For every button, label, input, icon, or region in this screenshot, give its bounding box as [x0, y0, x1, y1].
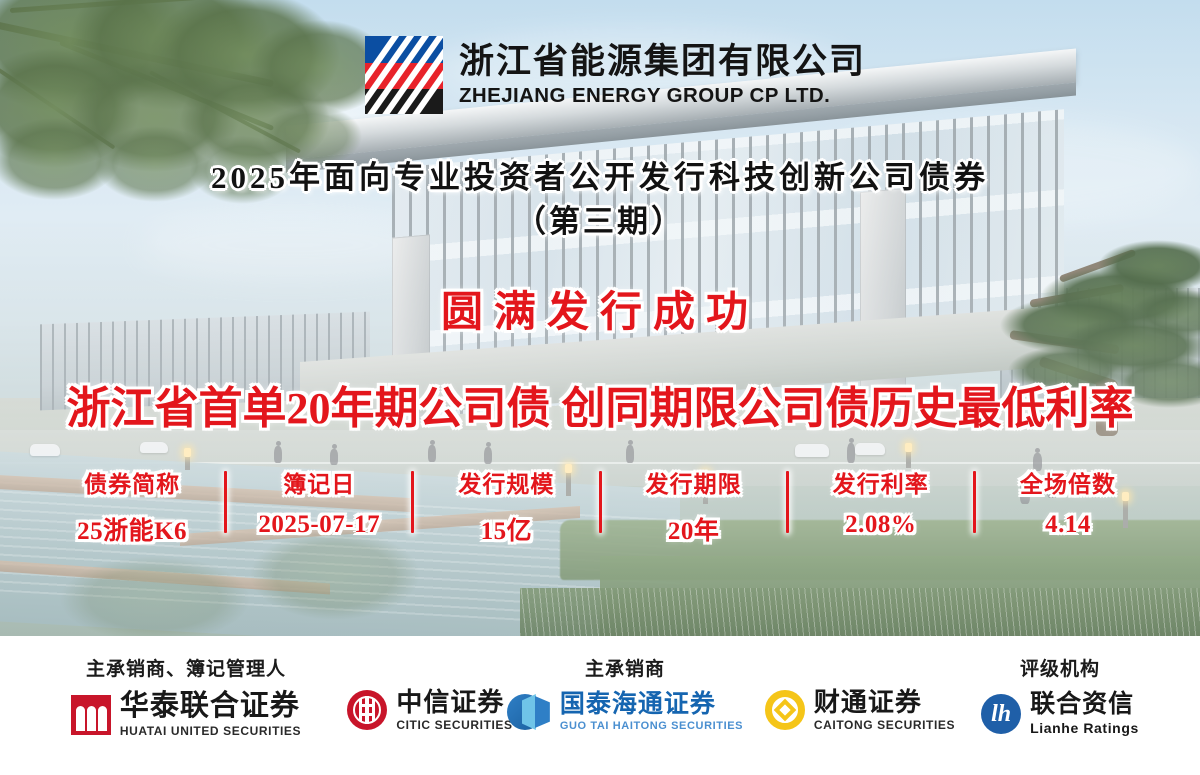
stat-value: 25浙能K6	[40, 511, 224, 547]
partner-caption: 评级机构	[960, 654, 1160, 681]
stat-value: 20年	[602, 511, 786, 547]
partner-name-cn: 国泰海通证券	[560, 692, 743, 717]
stat-item: 簿记日 2025-07-17	[227, 465, 411, 539]
partner-name-en: GUO TAI HAITONG SECURITIES	[560, 721, 743, 732]
headline-secondary: 浙江省首单20年期公司债 创同期限公司债历史最低利率	[0, 372, 1200, 436]
partner-group-lead-underwriter: 主承销商 国泰海通证券 GUO TAI HAITONG SECURITIES	[505, 654, 745, 732]
bond-title-line-1: 2025年面向专业投资者公开发行科技创新公司债券	[0, 152, 1200, 197]
partner-caption: 主承销商、簿记管理人	[36, 654, 336, 681]
stat-value: 2025-07-17	[227, 511, 411, 539]
partner-name-cn: 华泰联合证券	[120, 692, 301, 721]
partner-caption: 主承销商	[505, 654, 745, 681]
stat-label: 全场倍数	[976, 465, 1160, 499]
citic-securities-logo-icon	[347, 690, 387, 730]
company-name-cn: 浙江省能源集团有限公司	[459, 44, 866, 79]
stat-label: 发行期限	[602, 465, 786, 499]
stat-item: 发行期限 20年	[602, 465, 786, 547]
partner-name-en: CITIC SECURITIES	[396, 719, 512, 731]
partner-group-rating-agency: 评级机构 lh 联合资信 Lianhe Ratings	[960, 654, 1160, 735]
partner-group-caitong: 财通证券 CAITONG SECURITIES	[755, 689, 965, 731]
guotai-haitong-securities-logo-icon	[507, 692, 551, 732]
huatai-united-securities-logo-icon	[71, 695, 111, 735]
stat-item: 债券简称 25浙能K6	[40, 465, 224, 547]
stat-item: 全场倍数 4.14	[976, 465, 1160, 539]
partner-name-en: Lianhe Ratings	[1030, 721, 1139, 735]
poster-content: 浙江省能源集团有限公司 ZHEJIANG ENERGY GROUP CP LTD…	[0, 0, 1200, 636]
zhejiang-energy-logo-icon	[365, 36, 443, 114]
stat-item: 发行利率 2.08%	[789, 465, 973, 539]
bond-title-line-2: （第三期）	[0, 196, 1200, 241]
bond-stats-row: 债券简称 25浙能K6 簿记日 2025-07-17 发行规模 15亿 发行期限…	[40, 465, 1160, 543]
partner-name-cn: 财通证券	[814, 689, 955, 715]
stat-label: 发行利率	[789, 465, 973, 499]
stat-value: 2.08%	[789, 511, 973, 539]
company-logo-lockup: 浙江省能源集团有限公司 ZHEJIANG ENERGY GROUP CP LTD…	[365, 36, 866, 114]
caitong-securities-logo-icon	[765, 690, 805, 730]
company-name-en: ZHEJIANG ENERGY GROUP CP LTD.	[459, 86, 866, 107]
stat-label: 簿记日	[227, 465, 411, 499]
partner-name-cn: 联合资信	[1030, 692, 1139, 717]
stat-label: 债券简称	[40, 465, 224, 499]
partner-name-en: CAITONG SECURITIES	[814, 719, 955, 731]
bond-issuance-poster: 浙江省能源集团有限公司 ZHEJIANG ENERGY GROUP CP LTD…	[0, 0, 1200, 775]
lianhe-ratings-logo-icon: lh	[981, 694, 1021, 734]
partner-name-cn: 中信证券	[396, 689, 512, 715]
stat-value: 4.14	[976, 511, 1160, 539]
stat-label: 发行规模	[414, 465, 598, 499]
partner-group-lead-underwriter-bookrunner: 主承销商、簿记管理人 华泰联合证券 HUATAI UNITED SECURITI…	[36, 654, 336, 737]
footer-partners: 主承销商、簿记管理人 华泰联合证券 HUATAI UNITED SECURITI…	[0, 636, 1200, 775]
stat-value: 15亿	[414, 511, 598, 547]
stat-item: 发行规模 15亿	[414, 465, 598, 547]
partner-group-citic: 中信证券 CITIC SECURITIES	[330, 689, 530, 731]
partner-name-en: HUATAI UNITED SECURITIES	[120, 725, 301, 737]
headline-primary: 圆满发行成功	[0, 278, 1200, 339]
